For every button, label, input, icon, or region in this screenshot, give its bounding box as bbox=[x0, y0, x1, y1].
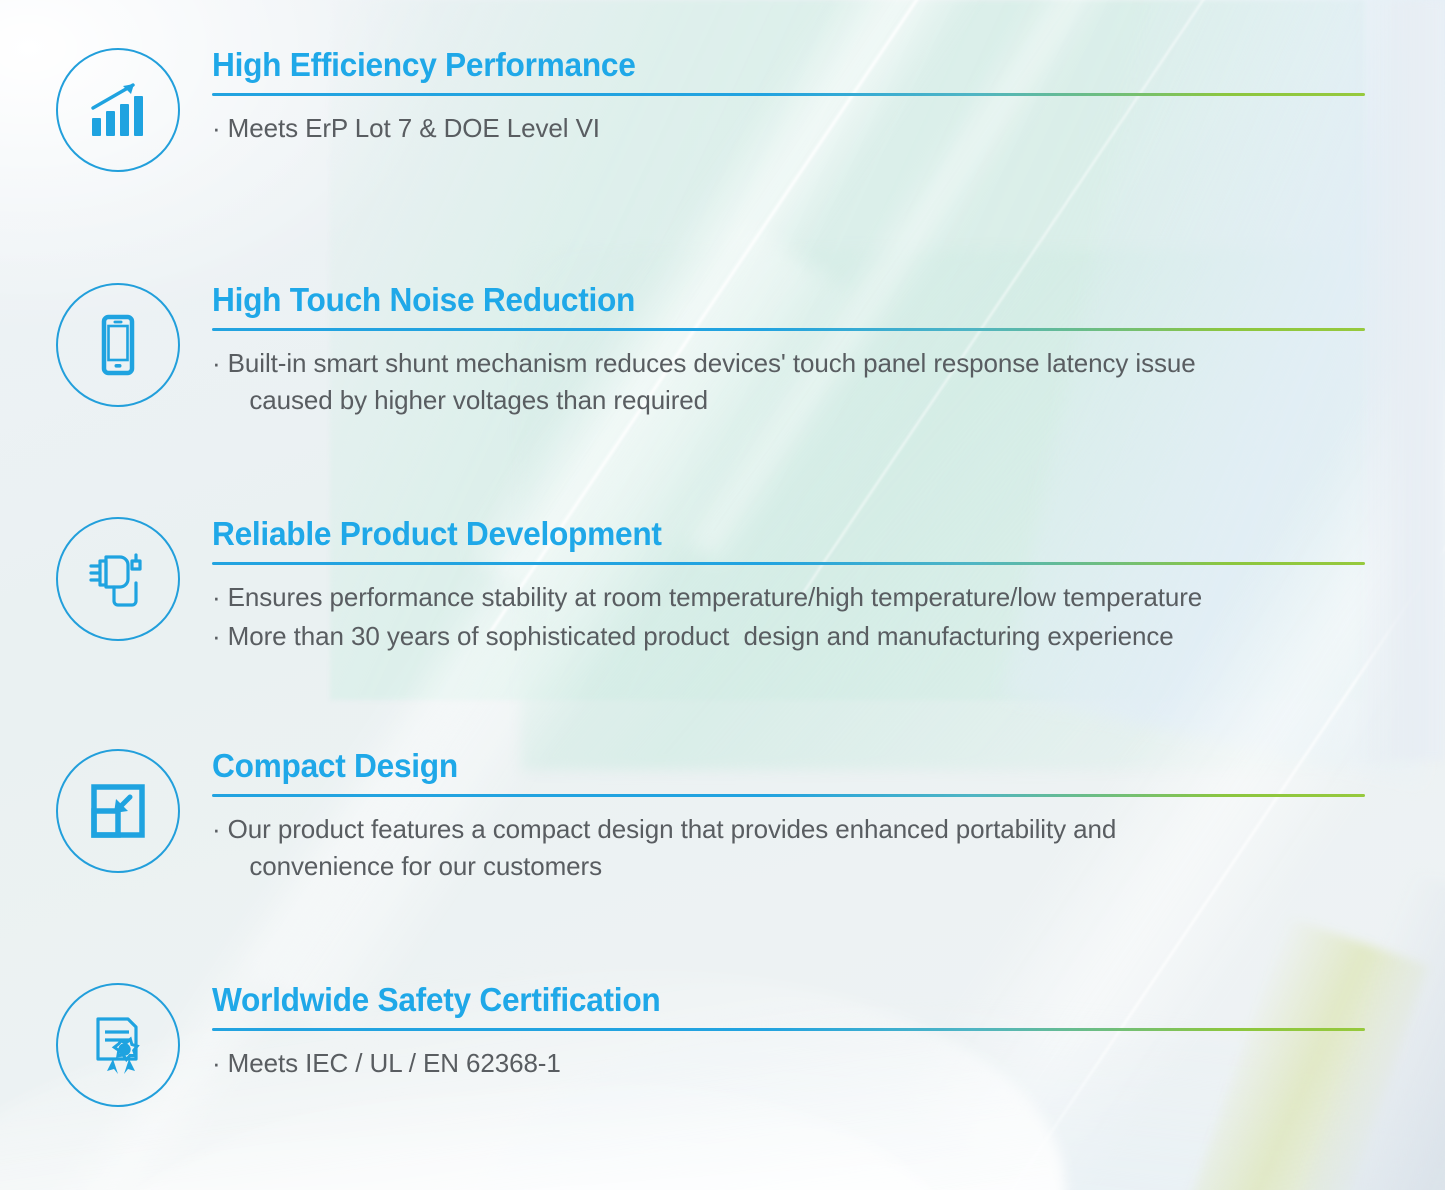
feature-bullet: · Built-in smart shunt mechanism reduces… bbox=[212, 345, 1412, 419]
feature-title: High Efficiency Performance bbox=[212, 48, 1364, 83]
bar-chart-growth-icon bbox=[86, 78, 150, 142]
feature-bullet: · Our product features a compact design … bbox=[212, 811, 1412, 885]
compact-resize-icon bbox=[86, 779, 150, 843]
feature-bullet: · More than 30 years of sophisticated pr… bbox=[212, 618, 1412, 655]
feature-icon-container bbox=[56, 48, 180, 172]
feature-icon-container bbox=[56, 749, 180, 873]
feature-bullet-list: · Meets ErP Lot 7 & DOE Level VI bbox=[212, 110, 1412, 147]
feature-text-column: Reliable Product Development · Ensures p… bbox=[212, 517, 1412, 654]
infographic-page: High Efficiency Performance · Meets ErP … bbox=[0, 0, 1445, 1190]
feature-bullet: · Meets ErP Lot 7 & DOE Level VI bbox=[212, 110, 1412, 147]
feature-divider bbox=[212, 93, 1365, 96]
feature-text-column: Worldwide Safety Certification · Meets I… bbox=[212, 983, 1412, 1082]
feature-divider bbox=[212, 794, 1365, 797]
smartphone-icon bbox=[86, 313, 150, 377]
feature-bullet-list: · Our product features a compact design … bbox=[212, 811, 1412, 885]
feature-title: Reliable Product Development bbox=[212, 517, 1364, 552]
feature-icon-container bbox=[56, 283, 180, 407]
feature-divider bbox=[212, 562, 1365, 565]
feature-icon-container bbox=[56, 983, 180, 1107]
feature-bullet-list: · Meets IEC / UL / EN 62368-1 bbox=[212, 1045, 1412, 1082]
feature-bullet: · Meets IEC / UL / EN 62368-1 bbox=[212, 1045, 1412, 1082]
feature-icon-container bbox=[56, 517, 180, 641]
feature-bullet-list: · Built-in smart shunt mechanism reduces… bbox=[212, 345, 1412, 419]
feature-bullet: · Ensures performance stability at room … bbox=[212, 579, 1412, 616]
feature-title: Compact Design bbox=[212, 749, 1364, 784]
feature-text-column: High Efficiency Performance · Meets ErP … bbox=[212, 48, 1412, 147]
power-adapter-icon bbox=[86, 547, 150, 611]
feature-title: High Touch Noise Reduction bbox=[212, 283, 1364, 318]
feature-divider bbox=[212, 1028, 1365, 1031]
feature-divider bbox=[212, 328, 1365, 331]
feature-text-column: High Touch Noise Reduction · Built-in sm… bbox=[212, 283, 1412, 418]
certificate-award-icon bbox=[86, 1013, 150, 1077]
feature-bullet-list: · Ensures performance stability at room … bbox=[212, 579, 1412, 655]
feature-title: Worldwide Safety Certification bbox=[212, 983, 1364, 1018]
feature-text-column: Compact Design · Our product features a … bbox=[212, 749, 1412, 884]
